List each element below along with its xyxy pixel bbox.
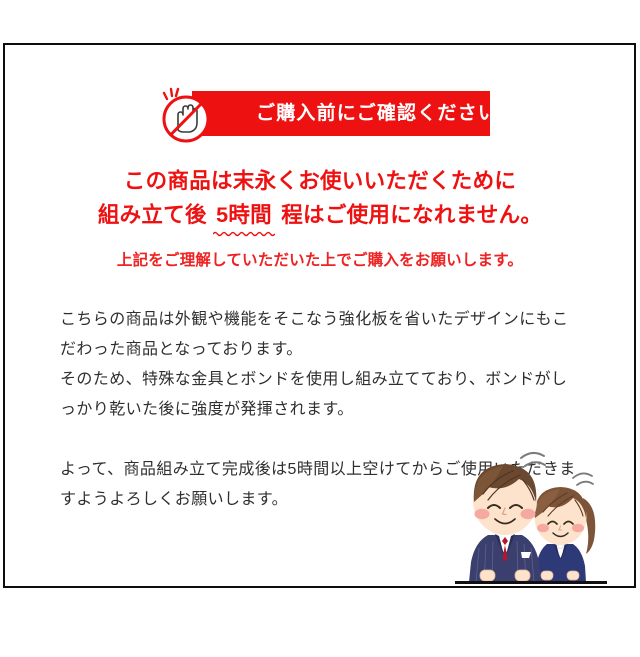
- headline-line-2: 組み立て後 5時間 程はご使用になれません。: [0, 198, 640, 232]
- banner-bar: ご購入前にご確認ください: [192, 91, 490, 136]
- headline-line2-before: 組み立て後: [98, 203, 213, 227]
- businesswoman-figure: [535, 473, 596, 582]
- ground-line: [455, 581, 607, 584]
- headline-line-1: この商品は末永くお使いいただくために: [124, 169, 516, 193]
- headline-emphasis: 5時間: [213, 198, 275, 232]
- body-paragraph-2: そのため、特殊な金具とボンドを使用し組み立てており、ボンドがしっかり乾いた後に強…: [60, 365, 580, 425]
- stop-hand-no-entry-icon: [155, 85, 219, 147]
- wavy-underline-icon: [213, 231, 275, 237]
- headline-line2-after: 程はご使用になれません。: [275, 203, 542, 227]
- notice-banner: ご購入前にご確認ください: [155, 85, 490, 147]
- notice-page: ご購入前にご確認ください この商品は末永くお使いいただくために 組み立て後 5時…: [0, 0, 640, 657]
- businessman-figure: [469, 453, 545, 582]
- two-people-bowing-illustration: [455, 440, 607, 588]
- subline: 上記をご理解していただいた上でご購入をお願いします。: [0, 250, 640, 272]
- banner-title: ご購入前にご確認ください: [256, 104, 498, 123]
- headline: この商品は末永くお使いいただくために 組み立て後 5時間 程はご使用になれません…: [0, 164, 640, 232]
- headline-emphasis-text: 5時間: [216, 203, 272, 227]
- body-paragraph-1: こちらの商品は外観や機能をそこなう強化板を省いたデザインにもこだわった商品となっ…: [60, 305, 580, 365]
